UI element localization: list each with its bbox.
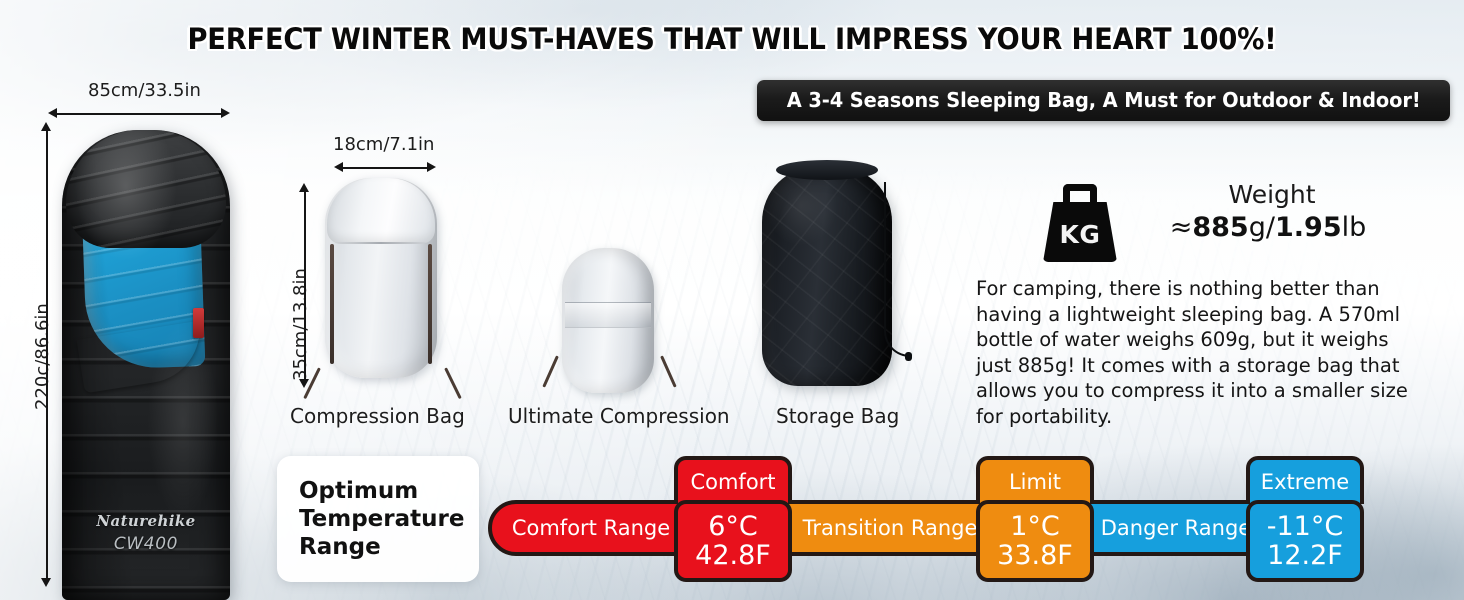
point-extreme-cap: Extreme xyxy=(1246,456,1364,504)
weight-approx-symbol: ≈ xyxy=(1170,212,1193,243)
point-limit-celsius: 1°C xyxy=(1010,512,1060,541)
weight-grams: 885 xyxy=(1192,212,1248,243)
weight-pounds: 1.95 xyxy=(1275,212,1342,243)
sleeping-bag-model-label: CW400 xyxy=(114,534,178,554)
product-image-compression-bag xyxy=(325,178,437,378)
compression-bag-strap-left xyxy=(330,244,334,364)
storage-bag-drawcord xyxy=(884,182,910,357)
main-bag-width-label: 85cm/33.5in xyxy=(88,80,201,101)
main-bag-width-arrow xyxy=(48,108,230,119)
point-comfort-cap: Comfort xyxy=(674,456,792,504)
caption-storage-bag: Storage Bag xyxy=(776,404,899,428)
storage-bag-body xyxy=(762,166,892,386)
compression-bag-height-arrow xyxy=(299,183,310,388)
point-extreme: -11°C 12.2F xyxy=(1246,500,1364,582)
subtitle-banner-label: A 3-4 Seasons Sleeping Bag, A Must for O… xyxy=(786,88,1420,112)
weight-title: Weight xyxy=(1147,180,1397,209)
point-comfort: 6°C 42.8F xyxy=(674,500,792,582)
storage-bag-cord-tip xyxy=(905,352,912,361)
point-limit-name: Limit xyxy=(1009,470,1061,494)
weight-value: ≈885g/1.95lb xyxy=(1133,212,1403,243)
compression-bag-width-arrow xyxy=(334,162,436,173)
point-extreme-celsius: -11°C xyxy=(1267,512,1343,541)
point-comfort-fahrenheit: 42.8F xyxy=(695,541,771,570)
caption-compression-bag: Compression Bag xyxy=(290,404,465,428)
weight-grams-unit: g xyxy=(1249,212,1266,243)
infographic-stage: PERFECT WINTER MUST-HAVES THAT WILL IMPR… xyxy=(0,0,1464,600)
point-comfort-celsius: 6°C xyxy=(708,512,758,541)
main-bag-height-arrow xyxy=(41,122,52,587)
optimum-temperature-card: Optimum Temperature Range xyxy=(277,456,479,582)
weight-icon-label: KG xyxy=(1043,220,1117,249)
weight-kettlebell-icon: KG xyxy=(1043,184,1117,262)
product-image-storage-bag xyxy=(762,166,892,386)
caption-ultimate-compression: Ultimate Compression xyxy=(508,404,730,428)
range-danger-label: Danger Range xyxy=(1101,516,1251,540)
storage-bag-creases xyxy=(762,166,892,386)
compression-bag-width-label: 18cm/7.1in xyxy=(333,134,434,155)
weight-pounds-unit: lb xyxy=(1342,212,1367,243)
range-comfort-label: Comfort Range xyxy=(512,516,670,540)
point-extreme-fahrenheit: 12.2F xyxy=(1267,541,1343,570)
sleeping-bag-brand-label: Naturehike xyxy=(96,512,195,530)
range-transition: Transition Range xyxy=(784,500,996,556)
weight-separator: / xyxy=(1266,212,1275,243)
point-limit-cap: Limit xyxy=(976,456,1094,504)
temperature-range-bar: Comfort Range Comfort 6°C 42.8F Transiti… xyxy=(488,452,1368,584)
storage-bag-cinch-top xyxy=(776,160,878,180)
weight-description: For camping, there is nothing better tha… xyxy=(976,276,1424,429)
range-comfort: Comfort Range xyxy=(488,500,694,556)
product-image-sleeping-bag: Naturehike CW400 xyxy=(62,130,230,600)
point-comfort-name: Comfort xyxy=(690,470,775,494)
ultimate-bag-cinch-band xyxy=(565,302,651,328)
subtitle-banner: A 3-4 Seasons Sleeping Bag, A Must for O… xyxy=(757,80,1450,121)
optimum-temperature-title: Optimum Temperature Range xyxy=(277,477,464,561)
page-title: PERFECT WINTER MUST-HAVES THAT WILL IMPR… xyxy=(44,22,1420,56)
point-extreme-name: Extreme xyxy=(1261,470,1349,494)
compression-bag-seam xyxy=(333,242,429,244)
point-limit: 1°C 33.8F xyxy=(976,500,1094,582)
range-transition-label: Transition Range xyxy=(803,516,978,540)
point-limit-fahrenheit: 33.8F xyxy=(997,541,1073,570)
range-danger: Danger Range xyxy=(1086,500,1266,556)
compression-bag-strap-right xyxy=(428,244,432,364)
product-image-ultimate-compression xyxy=(562,248,654,393)
